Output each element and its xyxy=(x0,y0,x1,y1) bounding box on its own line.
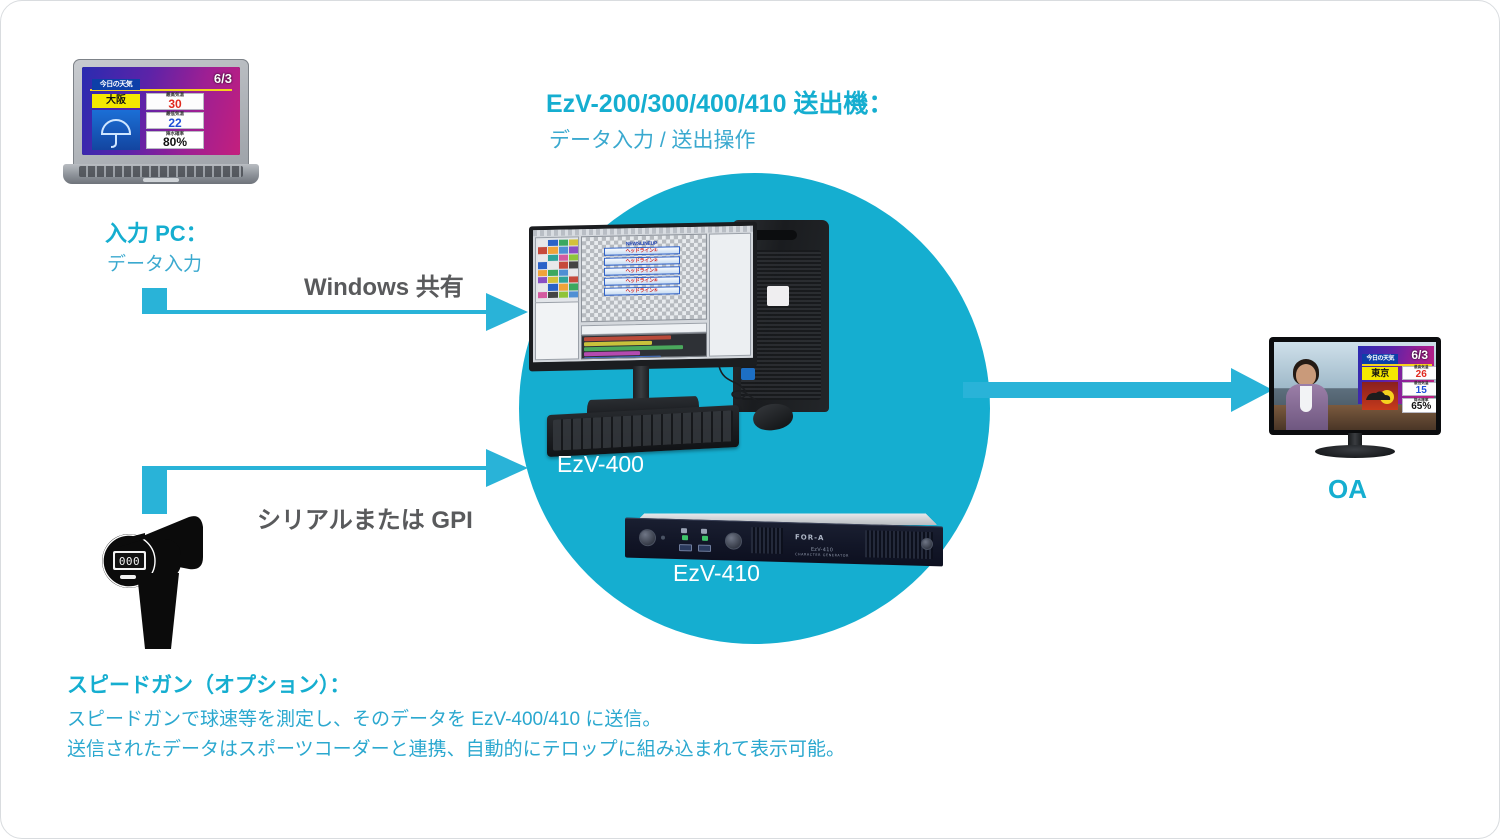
cg-news-lineup: NEWSLINEUP ヘッドライン① ヘッドライン② ヘッドライン③ ヘッドライ… xyxy=(604,240,680,298)
weather-row: 最低気温 15 xyxy=(1402,382,1436,396)
input-pc-laptop: 6/3 今日の天気 大阪 最高気温 30 最 xyxy=(63,59,259,187)
newscaster-head xyxy=(1296,364,1316,386)
oa-screen: 6/3 今日の天気 東京 最高気温 26 最 xyxy=(1274,342,1436,430)
rack-screw xyxy=(921,538,933,550)
cg-headline-row: ヘッドライン③ xyxy=(604,266,680,276)
weather-row: 最高気温 30 xyxy=(146,93,204,110)
workstation-label: EzV-400 xyxy=(557,451,644,478)
oa-stand-base xyxy=(1315,445,1395,458)
cg-editor-app: abc NEWSLINEUP ヘッドライン① ヘッドライン② ヘッドライン③ ヘ… xyxy=(533,226,753,363)
row-value: 15 xyxy=(1416,386,1427,396)
caption-heading: スピードガン（オプション）： xyxy=(67,669,1117,699)
weather-telop-overlay: 6/3 今日の天気 東京 最高気温 26 最 xyxy=(1358,346,1434,404)
model-label: EzV-410 CHARACTER GENERATOR xyxy=(787,546,857,558)
caption-line-1: スピードガンで球速等を測定し、そのデータを EzV-400/410 に送信。 xyxy=(67,705,1117,735)
weather-row: 降水確率 80% xyxy=(146,131,204,149)
usb-port xyxy=(679,544,692,551)
led-label xyxy=(701,529,707,534)
weather-city: 大阪 xyxy=(92,94,140,108)
cg-headline-row: ヘッドライン② xyxy=(604,256,680,266)
newscaster-shirt xyxy=(1300,386,1312,412)
model-subtitle: CHARACTER GENERATOR xyxy=(787,552,857,558)
row-value: 65% xyxy=(1411,402,1431,412)
cg-headline-row: ヘッドライン① xyxy=(604,246,680,256)
sun-cloud-glyph xyxy=(1362,382,1398,410)
weather-city: 東京 xyxy=(1362,367,1398,380)
laptop-keyboard xyxy=(79,166,243,177)
windows-share-label: Windows 共有 xyxy=(304,267,464,302)
keyboard-keys xyxy=(553,410,733,450)
speed-gun: 000 xyxy=(93,499,213,651)
power-button[interactable] xyxy=(639,529,656,546)
rack-unit-label: EzV-410 xyxy=(673,560,760,587)
weather-row: 最低気温 22 xyxy=(146,112,204,129)
weather-row: 最高気温 26 xyxy=(1402,366,1436,380)
weather-header-tag: 今日の天気 xyxy=(1362,354,1398,364)
cg-canvas-area: NEWSLINEUP ヘッドライン① ヘッドライン② ヘッドライン③ ヘッドライ… xyxy=(581,234,707,323)
row-value: 26 xyxy=(1416,370,1427,380)
weather-date: 6/3 xyxy=(1411,348,1428,362)
umbrella-glyph xyxy=(92,110,140,150)
keyboard xyxy=(547,405,739,457)
oa-bezel: 6/3 今日の天気 東京 最高気温 26 最 xyxy=(1269,337,1441,435)
input-pc-title: 入力 PC： xyxy=(105,216,208,248)
usb-port xyxy=(698,545,711,552)
status-led-indicator xyxy=(661,536,665,540)
umbrella-icon xyxy=(92,110,140,150)
weather-header-tag: 今日の天気 xyxy=(92,79,140,90)
serial-gpi-label: シリアルまたは GPI xyxy=(257,500,473,535)
weather-cg-graphic: 6/3 今日の天気 大阪 最高気温 30 最 xyxy=(82,67,240,155)
cg-timeline xyxy=(581,333,707,360)
cg-headline-row: ヘッドライン⑤ xyxy=(604,286,680,296)
speed-gun-caption: スピードガン（オプション）： スピードガンで球速等を測定し、そのデータを EzV… xyxy=(67,669,1117,765)
caption-line-2: 送信されたデータはスポーツコーダーと連携、自動的にテロップに組み込まれて表示可能… xyxy=(67,735,1117,765)
page-subtitle: データ入力 / 送出操作 xyxy=(549,124,756,154)
status-led xyxy=(682,535,688,540)
mouse-cable xyxy=(717,366,777,408)
monitor-screen: abc NEWSLINEUP ヘッドライン① ヘッドライン② ヘッドライン③ ヘ… xyxy=(533,226,753,363)
status-led xyxy=(702,536,708,541)
tower-badge xyxy=(767,286,789,306)
input-pc-subtitle: データ入力 xyxy=(107,249,202,276)
speed-gun-display: 000 xyxy=(119,555,140,568)
weather-row: 降水確率 65% xyxy=(1402,398,1436,413)
cg-color-swatches xyxy=(538,239,578,298)
brand-logo: FOR-A xyxy=(795,533,824,542)
diagram-canvas: EzV-200/300/400/410 送出機： データ入力 / 送出操作 6/… xyxy=(0,0,1500,839)
laptop-touchpad xyxy=(143,178,179,182)
cg-headline-row: ヘッドライン④ xyxy=(604,276,680,286)
cg-right-panel xyxy=(709,233,751,357)
row-value: 80% xyxy=(163,136,187,148)
vent-grill xyxy=(751,527,783,554)
timeline-clip xyxy=(584,356,661,360)
weather-date: 6/3 xyxy=(214,71,232,86)
workstation-ezv400: abc NEWSLINEUP ヘッドライン① ヘッドライン② ヘッドライン③ ヘ… xyxy=(521,216,871,461)
cg-assets-panel xyxy=(535,301,579,360)
row-value: 30 xyxy=(168,98,181,110)
monitor-bezel: abc NEWSLINEUP ヘッドライン① ヘッドライン② ヘッドライン③ ヘ… xyxy=(529,222,757,372)
output-arrow xyxy=(963,373,1275,415)
led-label xyxy=(681,528,687,533)
monitor-stand-neck xyxy=(633,366,649,401)
oa-monitor: 6/3 今日の天気 東京 最高気温 26 最 xyxy=(1269,337,1441,459)
oa-label: OA xyxy=(1328,474,1367,505)
laptop-lid: 6/3 今日の天気 大阪 最高気温 30 最 xyxy=(73,59,249,167)
speed-gun-glyph: 000 xyxy=(93,499,213,651)
laptop-screen: 6/3 今日の天気 大阪 最高気温 30 最 xyxy=(82,67,240,155)
row-value: 22 xyxy=(168,117,181,129)
page-title: EzV-200/300/400/410 送出機： xyxy=(546,84,893,120)
rack-screw xyxy=(725,532,742,549)
sun-cloud-icon xyxy=(1362,382,1398,410)
